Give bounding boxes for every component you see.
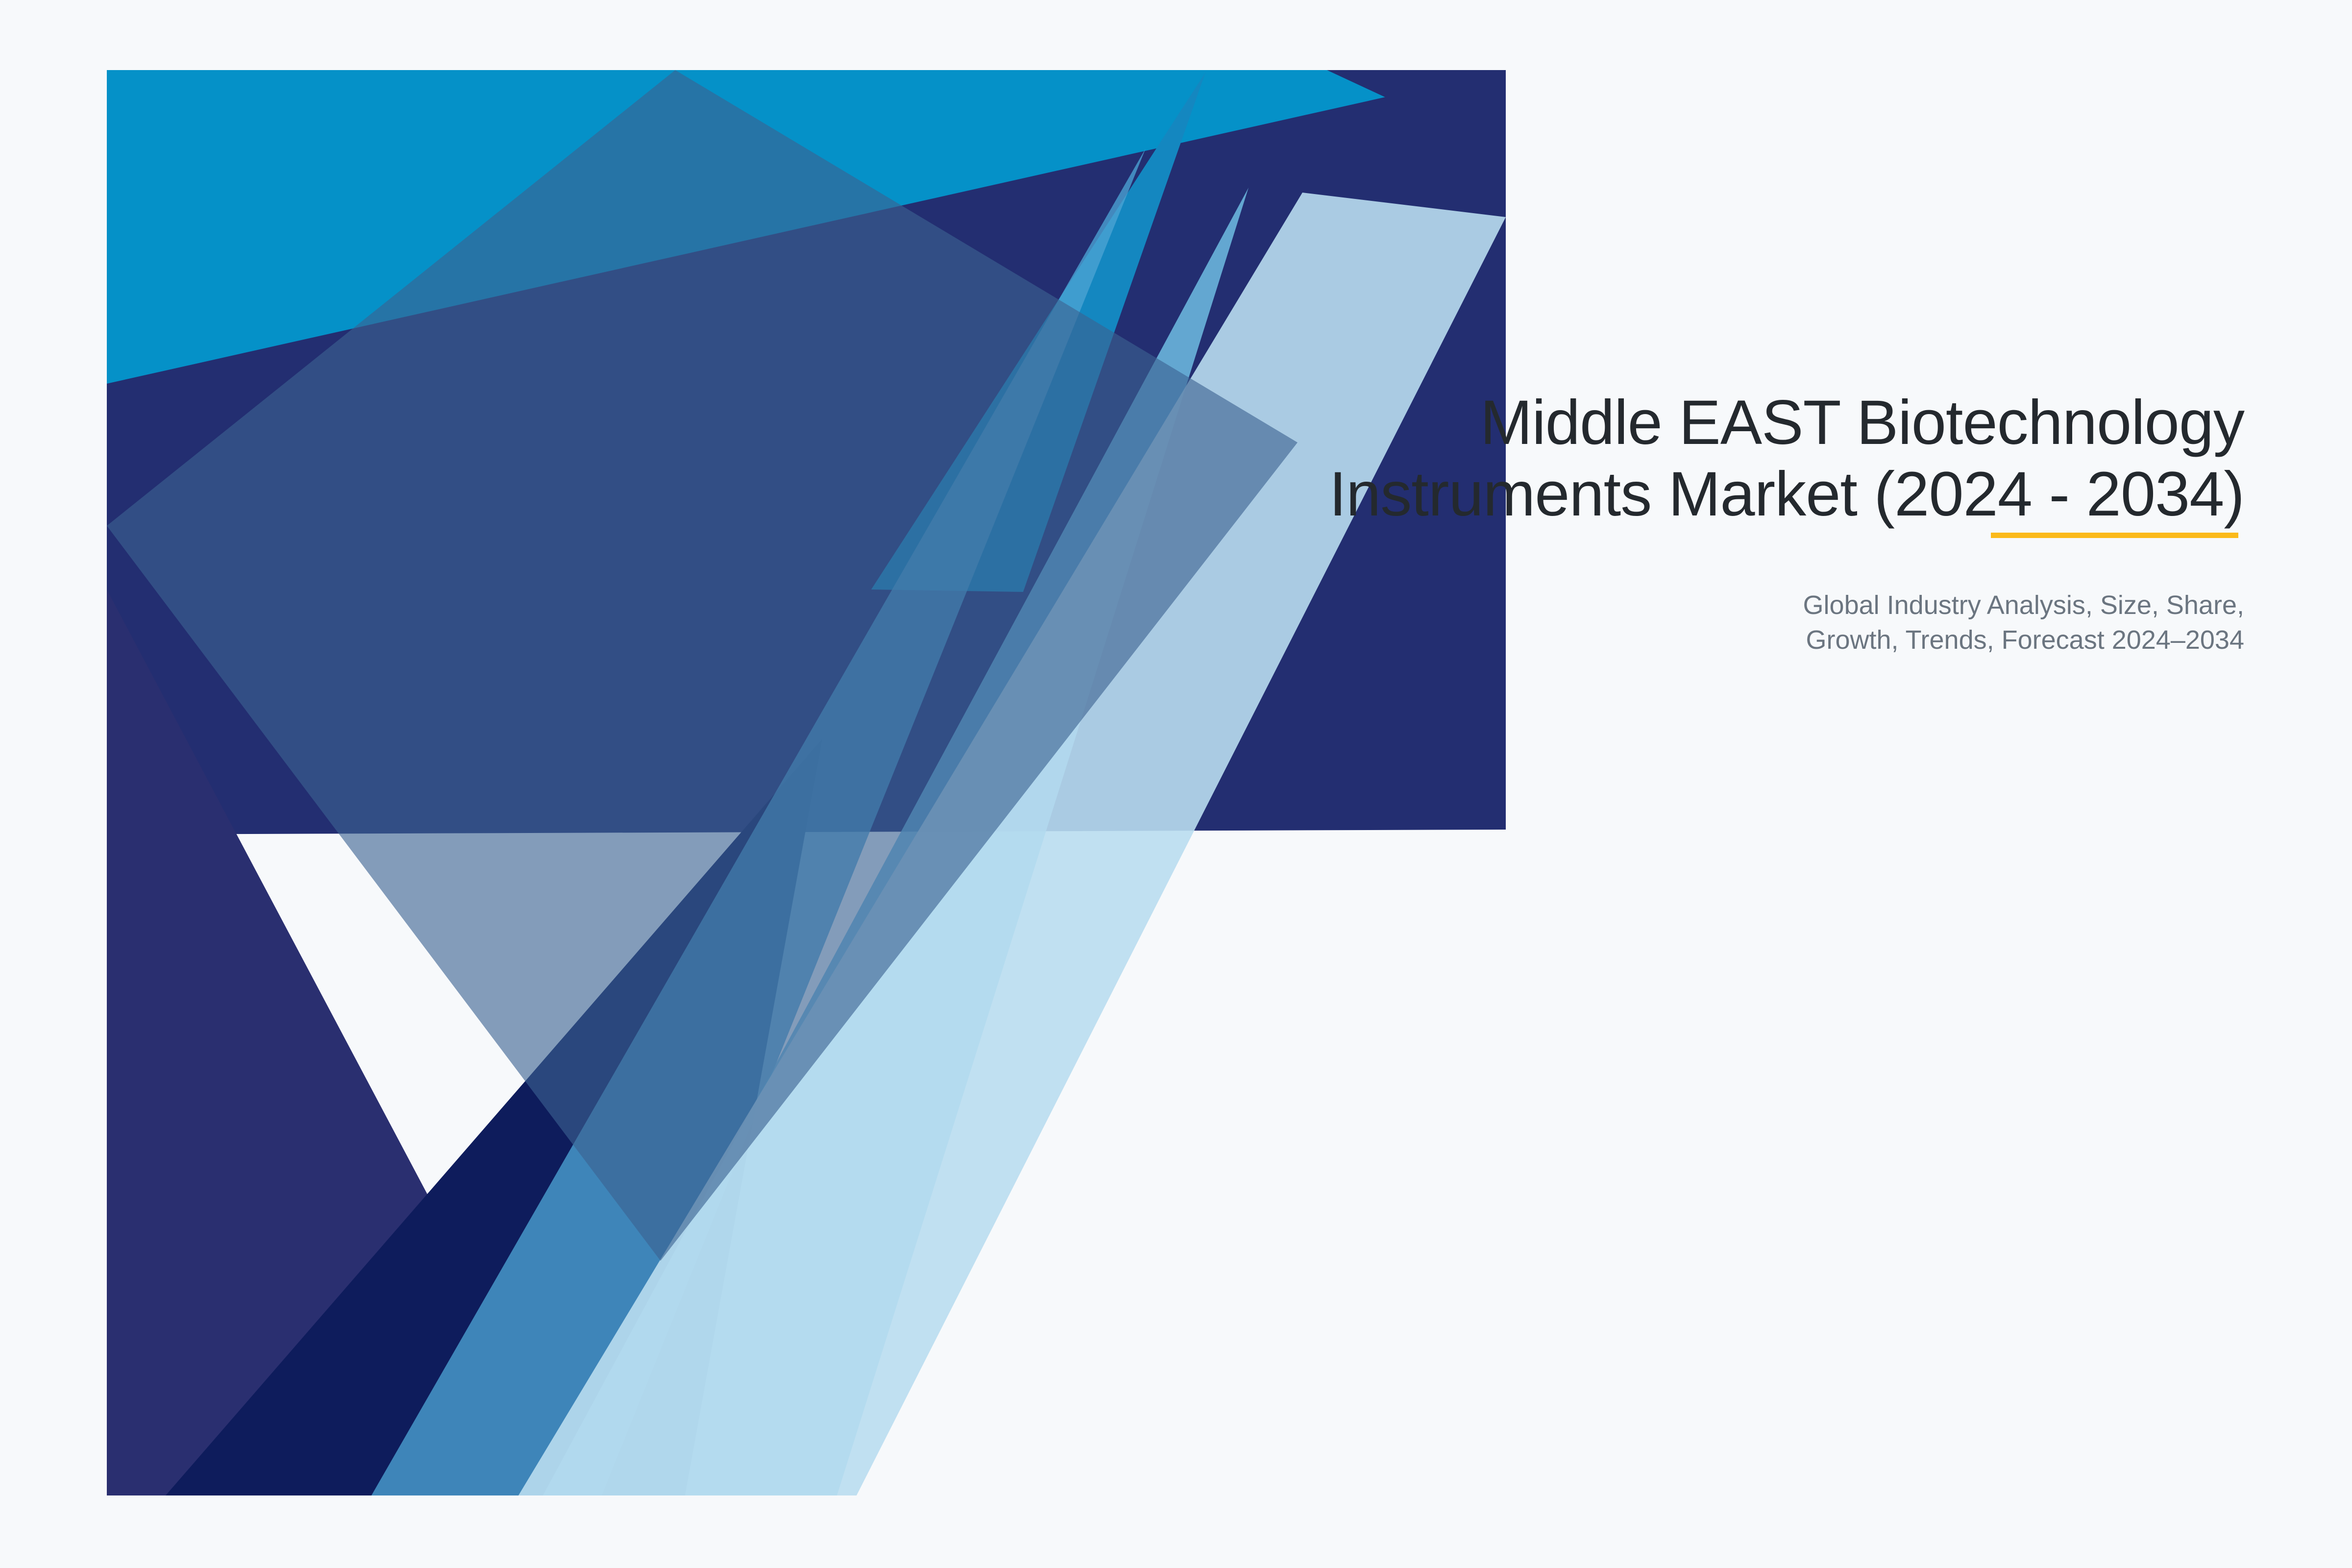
cover-page: Middle EAST Biotechnology Instruments Ma… — [0, 0, 2352, 1568]
page-subtitle-line-1: Global Industry Analysis, Size, Share, — [1803, 590, 2244, 620]
page-subtitle-line-2: Growth, Trends, Forecast 2024–2034 — [1806, 625, 2244, 655]
cover-artwork — [107, 70, 1506, 1495]
page-title-line-1: Middle EAST Biotechnology — [1480, 388, 2244, 458]
page-subtitle: Global Industry Analysis, Size, Share, G… — [1117, 530, 2244, 658]
page-title: Middle EAST Biotechnology Instruments Ma… — [1117, 387, 2244, 530]
page-title-line-2: Instruments Market (2024 - 2034) — [1329, 459, 2245, 529]
title-accent-underline — [1991, 533, 2238, 538]
cover-text-block: Middle EAST Biotechnology Instruments Ma… — [1117, 387, 2244, 658]
abstract-geometric-polygons — [107, 70, 1506, 1495]
